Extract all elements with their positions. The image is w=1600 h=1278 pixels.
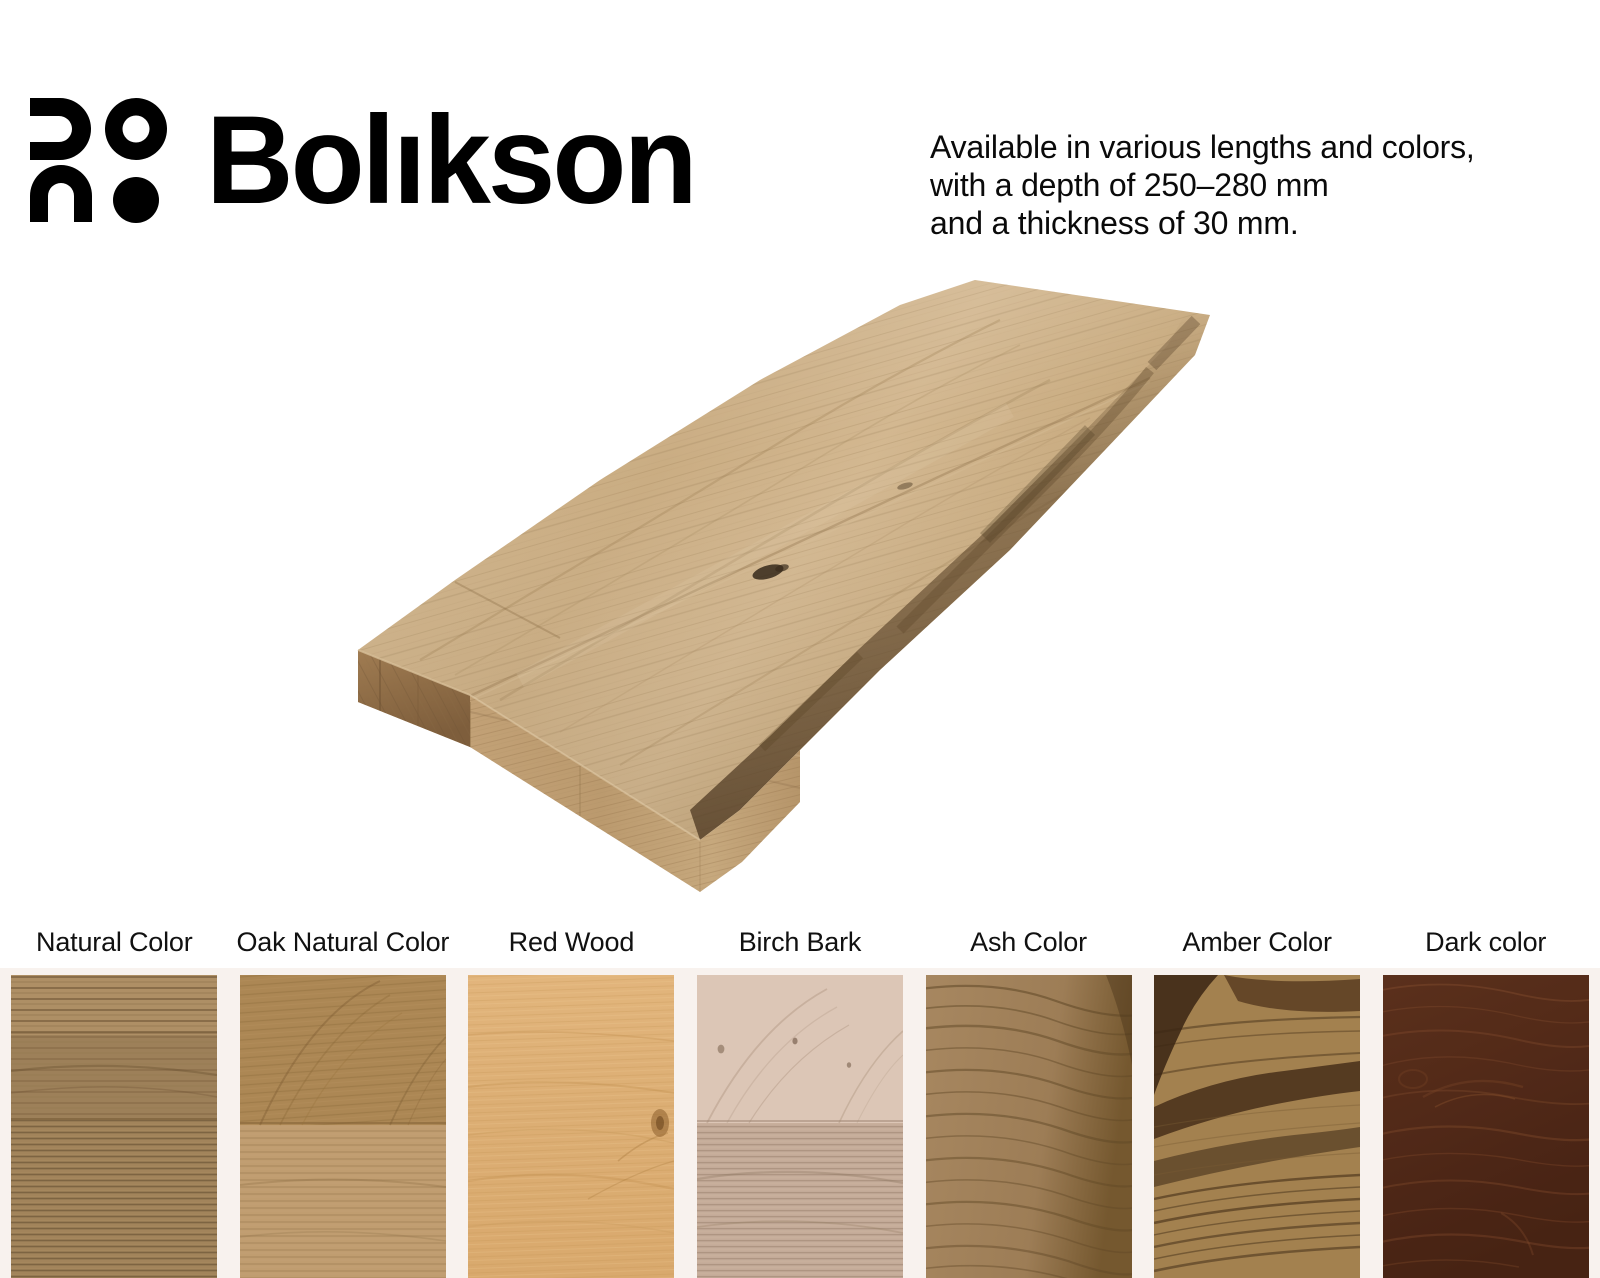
swatch-item[interactable]: Amber Color (1143, 918, 1372, 1278)
swatch-label: Amber Color (1182, 918, 1331, 966)
swatch-label: Dark color (1425, 918, 1546, 966)
swatch-item[interactable]: Birch Bark (686, 918, 915, 1278)
brand-lockup: Bolıkson (26, 96, 710, 224)
swatch-label: Birch Bark (739, 918, 862, 966)
swatch-label: Natural Color (36, 918, 192, 966)
swatch-tile-amber-color[interactable] (1154, 975, 1360, 1278)
product-tagline: Available in various lengths and colors,… (930, 128, 1475, 242)
swatch-item[interactable]: Oak Natural Color (229, 918, 458, 1278)
swatch-tile-oak-natural-color[interactable] (240, 975, 446, 1278)
plank-top-face (300, 250, 1300, 910)
header: Bolıkson Available in various lengths an… (0, 0, 1600, 270)
swatch-tile-natural-color[interactable] (11, 975, 217, 1278)
swatch-item[interactable]: Ash Color (914, 918, 1143, 1278)
brand-wordmark: Bolıkson (206, 98, 695, 223)
swatch-label: Oak Natural Color (237, 918, 450, 966)
swatch-tile-dark-color[interactable] (1383, 975, 1589, 1278)
bolikson-logo-mark-icon (26, 96, 178, 224)
color-swatch-row: Natural Color (0, 918, 1600, 1278)
swatch-item[interactable]: Natural Color (0, 918, 229, 1278)
swatch-item[interactable]: Red Wood (457, 918, 686, 1278)
swatch-tile-birch-bark[interactable] (697, 975, 903, 1278)
product-hero-image (0, 250, 1600, 910)
swatch-label: Ash Color (970, 918, 1087, 966)
swatch-label: Red Wood (509, 918, 634, 966)
swatch-tile-red-wood[interactable] (468, 975, 674, 1278)
swatch-tile-ash-color[interactable] (926, 975, 1132, 1278)
swatch-item[interactable]: Dark color (1371, 918, 1600, 1278)
